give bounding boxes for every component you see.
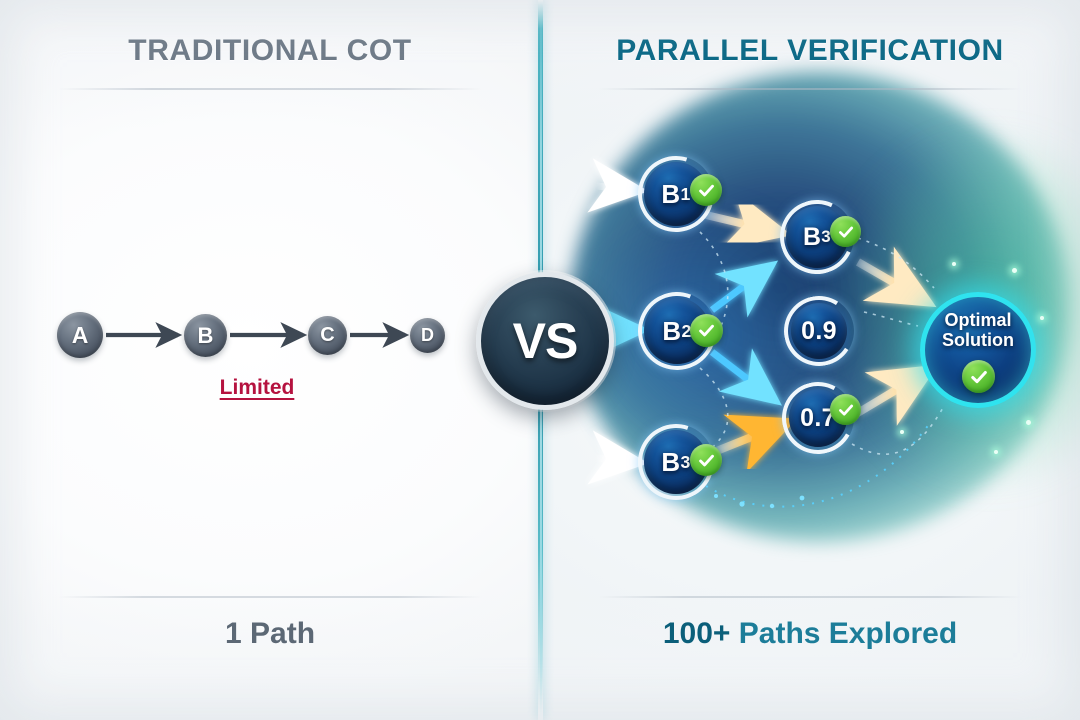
paths-count: 100+ (663, 617, 731, 650)
sparkle (1026, 420, 1031, 425)
optimal-solution-node[interactable]: Optimal Solution (920, 292, 1036, 408)
infographic-canvas: TRADITIONAL COT PARALLEL VERIFICATION A … (0, 0, 1080, 720)
optimal-line-2: Solution (920, 330, 1036, 350)
left-footer-caption: 1 Path (0, 617, 540, 651)
sparkle (952, 262, 956, 266)
graph-node-b3-top[interactable]: B3 (780, 200, 854, 274)
sparkle (994, 450, 998, 454)
sparkle (1040, 316, 1044, 320)
right-footer-rule (598, 596, 1022, 598)
optimal-verified-check-icon (962, 360, 995, 393)
graph-node-b1[interactable]: B1 (638, 156, 714, 232)
verified-check-icon (690, 444, 722, 476)
score-high-label: 0.9 (784, 296, 854, 366)
sparkle (900, 430, 904, 434)
paths-caption-rest: Paths Explored (730, 617, 957, 650)
verified-check-icon (690, 174, 722, 206)
sparkle (1012, 268, 1017, 273)
left-footer-rule (58, 596, 482, 598)
vs-badge-label: VS (481, 277, 609, 405)
graph-node-score-low[interactable]: 0.7 (782, 382, 854, 454)
verified-check-icon (690, 314, 723, 347)
graph-node-b2[interactable]: B2 (638, 292, 716, 370)
optimal-line-1: Optimal (920, 310, 1036, 330)
graph-node-score-high[interactable]: 0.9 (784, 296, 854, 366)
optimal-solution-label: Optimal Solution (920, 310, 1036, 350)
vs-badge: VS (476, 272, 614, 410)
right-footer-caption: 100+ Paths Explored (540, 617, 1080, 651)
verified-check-icon (830, 394, 861, 425)
graph-node-b3-bottom[interactable]: B3 (638, 424, 714, 500)
verified-check-icon (830, 216, 861, 247)
